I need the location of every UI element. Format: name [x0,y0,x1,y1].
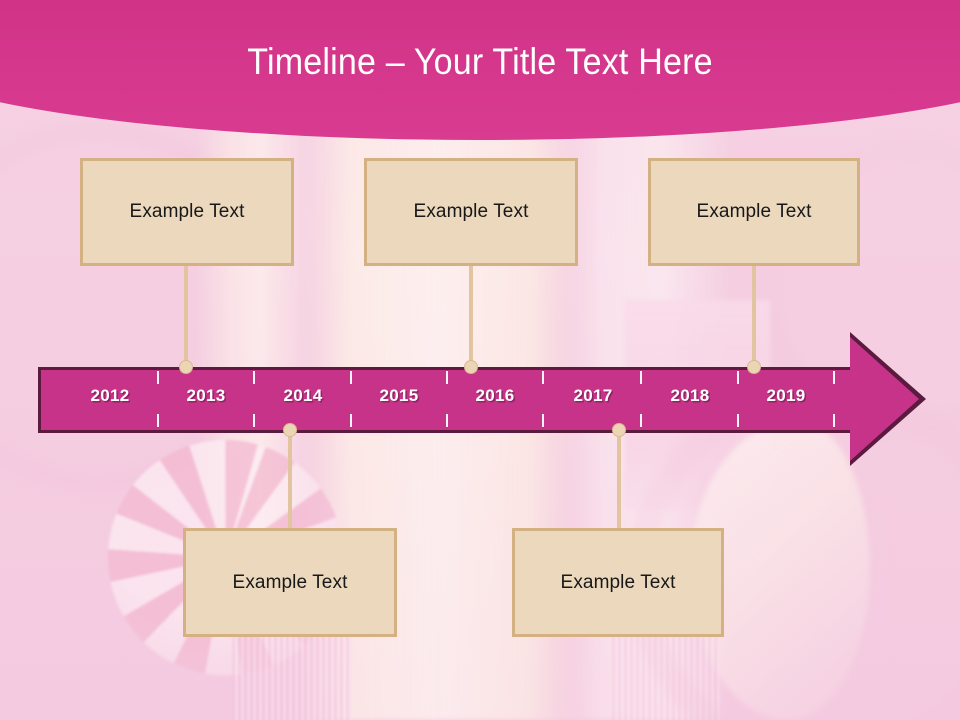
callout-label: Example Text [561,572,676,594]
year-label-2018: 2018 [670,386,709,406]
callout-box-top-3[interactable]: Example Text [648,158,860,266]
callout-label: Example Text [414,201,529,223]
photo-pink-wash [0,0,960,720]
year-label-2015: 2015 [379,386,418,406]
arrow-head-joint [844,370,856,430]
background-photo [0,0,960,720]
year-tick-top-2019 [833,371,835,384]
year-tick-bottom-2017 [640,414,642,427]
callout-box-top-2[interactable]: Example Text [364,158,578,266]
page-title: Timeline – Your Title Text Here [38,41,921,83]
year-tick-bottom-2016 [542,414,544,427]
year-tick-top-2016 [542,371,544,384]
year-label-2013: 2013 [186,386,225,406]
year-tick-top-2017 [640,371,642,384]
year-tick-bottom-2014 [350,414,352,427]
year-label-2016: 2016 [475,386,514,406]
callout-label: Example Text [233,572,348,594]
callout-stem-top-2 [469,266,473,367]
year-label-2017: 2017 [573,386,612,406]
year-label-2014: 2014 [283,386,322,406]
callout-box-top-1[interactable]: Example Text [80,158,294,266]
year-tick-top-2018 [737,371,739,384]
timeline-arrow: 20122013201420152016201720182019 [38,365,926,465]
year-tick-top-2012 [157,371,159,384]
callout-stem-top-1 [184,266,188,367]
arrow-head-fill [850,337,919,461]
timeline-slide: Timeline – Your Title Text Here 20122013… [0,0,960,720]
year-tick-top-2013 [253,371,255,384]
callout-stem-bottom-2 [617,430,621,528]
year-tick-bottom-2012 [157,414,159,427]
year-tick-top-2014 [350,371,352,384]
timeline-marker-bottom-1[interactable] [283,423,297,437]
callout-box-bottom-1[interactable]: Example Text [183,528,397,637]
timeline-marker-top-2[interactable] [464,360,478,374]
callout-box-bottom-2[interactable]: Example Text [512,528,724,637]
callout-stem-top-3 [752,266,756,367]
year-tick-bottom-2018 [737,414,739,427]
year-tick-top-2015 [446,371,448,384]
year-label-2019: 2019 [766,386,805,406]
timeline-marker-top-3[interactable] [747,360,761,374]
year-tick-bottom-2019 [833,414,835,427]
timeline-marker-top-1[interactable] [179,360,193,374]
year-tick-bottom-2015 [446,414,448,427]
year-label-2012: 2012 [90,386,129,406]
callout-stem-bottom-1 [288,430,292,528]
callout-label: Example Text [130,201,245,223]
callout-label: Example Text [697,201,812,223]
timeline-marker-bottom-2[interactable] [612,423,626,437]
year-tick-bottom-2013 [253,414,255,427]
